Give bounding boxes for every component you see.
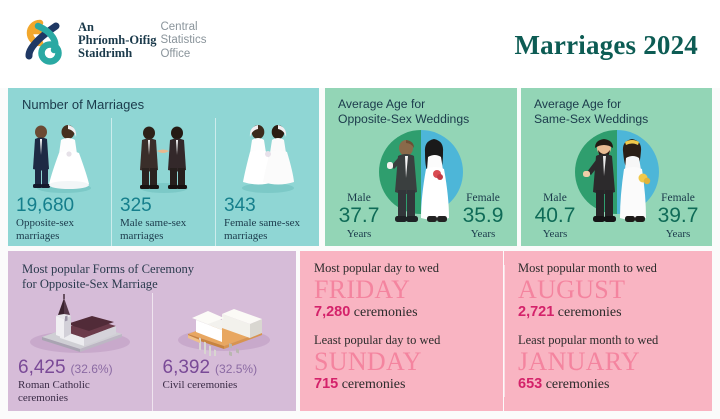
ceremony-value: 6,392 — [163, 357, 211, 378]
panel-month-to-wed: Most popular month to wed AUGUST 2,721 c… — [504, 251, 712, 411]
header: An Phríomh-Oifig Staidrimh Central Stati… — [0, 0, 720, 88]
panel-day-to-wed: Most popular day to wed FRIDAY 7,280 cer… — [300, 251, 503, 411]
month-least-caption: Least popular month to wed — [518, 333, 708, 347]
month-least-name: JANUARY — [518, 347, 708, 376]
marriages-value: 325 — [120, 196, 207, 216]
panel-average-age-same-sex: Average Age for Same-Sex Weddings — [521, 88, 712, 246]
month-most-caption: Most popular month to wed — [518, 261, 708, 275]
marriages-item-opposite-sex: 19,680 Opposite-sex marriages — [8, 118, 111, 246]
age-opposite-male: Male 37.7 Years — [331, 192, 387, 240]
month-most-count: 2,721 — [518, 304, 554, 320]
ceremony-item-roman-catholic: 6,425 (32.6%) Roman Catholic ceremonies — [8, 293, 152, 411]
ceremony-item-civil: 6,392 (32.5%) Civil ceremonies — [152, 293, 297, 411]
age-same-male: Male 40.7 Years — [527, 192, 583, 240]
ceremony-number-line: 6,425 (32.6%) — [18, 357, 142, 378]
logo-text-irish: An Phríomh-Oifig Staidrimh — [78, 21, 156, 60]
month-least-popular: Least popular month to wed JANUARY 653 c… — [518, 333, 708, 393]
day-least-caption: Least popular day to wed — [314, 333, 496, 347]
page-title: Marriages 2024 — [515, 30, 699, 61]
logo-text-english: Central Statistics Office — [156, 21, 206, 62]
panel-divider — [504, 265, 505, 397]
ceremony-number-line: 6,392 (32.5%) — [163, 357, 287, 378]
ceremony-percent: (32.6%) — [71, 362, 113, 376]
same-sex-wedding-couple-figure-icon — [572, 134, 662, 232]
month-most-name: AUGUST — [518, 275, 708, 304]
panel-title-average-age-opposite-sex: Average Age for Opposite-Sex Weddings — [338, 97, 469, 126]
marriages-columns: 19,680 Opposite-sex marriages — [8, 118, 319, 246]
ceremony-percent: (32.5%) — [215, 362, 257, 376]
panel-title-forms-of-ceremony: Most popular Forms of Ceremony for Oppos… — [22, 262, 194, 292]
marriages-label: Female same-sex marriages — [224, 217, 311, 242]
church-building-icon — [18, 293, 142, 357]
day-most-unit: ceremonies — [354, 305, 418, 320]
opposite-sex-couple-figure-icon — [16, 118, 103, 194]
day-least-unit: ceremonies — [342, 377, 406, 392]
day-most-popular: Most popular day to wed FRIDAY 7,280 cer… — [314, 261, 496, 321]
age-opposite-female: Female 35.9 Years — [455, 192, 511, 240]
panel-number-of-marriages: Number of Marriages — [8, 88, 319, 246]
day-most-name: FRIDAY — [314, 275, 496, 304]
marriages-item-male-same-sex: 325 Male same-sex marriages — [111, 118, 215, 246]
day-most-count-line: 7,280 ceremonies — [314, 304, 496, 321]
day-most-caption: Most popular day to wed — [314, 261, 496, 275]
month-least-unit: ceremonies — [546, 377, 610, 392]
panel-title-number-of-marriages: Number of Marriages — [22, 98, 144, 112]
age-opposite-body: Male 37.7 Years Female 35.9 Years — [325, 126, 517, 246]
day-least-popular: Least popular day to wed SUNDAY 715 cere… — [314, 333, 496, 393]
ceremony-value: 6,425 — [18, 357, 66, 378]
civil-registry-building-icon — [163, 293, 287, 357]
panel-forms-of-ceremony: Most popular Forms of Ceremony for Oppos… — [8, 251, 296, 411]
marriages-value: 19,680 — [16, 196, 103, 216]
month-least-count-line: 653 ceremonies — [518, 376, 708, 393]
day-least-count-line: 715 ceremonies — [314, 376, 496, 393]
month-most-unit: ceremonies — [558, 305, 622, 320]
ceremony-columns: 6,425 (32.6%) Roman Catholic ceremonies — [8, 293, 296, 411]
opposite-sex-wedding-couple-figure-icon — [376, 134, 466, 232]
cso-logo: An Phríomh-Oifig Staidrimh Central Stati… — [16, 14, 206, 68]
marriages-label: Male same-sex marriages — [120, 217, 207, 242]
day-least-count: 715 — [314, 376, 338, 392]
marriages-value: 343 — [224, 196, 311, 216]
month-most-popular: Most popular month to wed AUGUST 2,721 c… — [518, 261, 708, 321]
ceremony-label: Civil ceremonies — [163, 379, 287, 392]
month-least-count: 653 — [518, 376, 542, 392]
panel-title-average-age-same-sex: Average Age for Same-Sex Weddings — [534, 97, 648, 126]
infographic-page: An Phríomh-Oifig Staidrimh Central Stati… — [0, 0, 720, 419]
cso-swirl-logo-icon — [16, 14, 70, 68]
male-same-sex-couple-figure-icon — [120, 118, 207, 194]
age-same-body: Male 40.7 Years Female 39.7 Years — [521, 126, 712, 246]
month-most-count-line: 2,721 ceremonies — [518, 304, 708, 321]
marriages-label: Opposite-sex marriages — [16, 217, 103, 242]
ceremony-label: Roman Catholic ceremonies — [18, 379, 142, 404]
panel-average-age-opposite-sex: Average Age for Opposite-Sex Weddings — [325, 88, 517, 246]
day-most-count: 7,280 — [314, 304, 350, 320]
marriages-item-female-same-sex: 343 Female same-sex marriages — [215, 118, 319, 246]
age-same-female: Female 39.7 Years — [650, 192, 706, 240]
female-same-sex-couple-figure-icon — [224, 118, 311, 194]
day-least-name: SUNDAY — [314, 347, 496, 376]
